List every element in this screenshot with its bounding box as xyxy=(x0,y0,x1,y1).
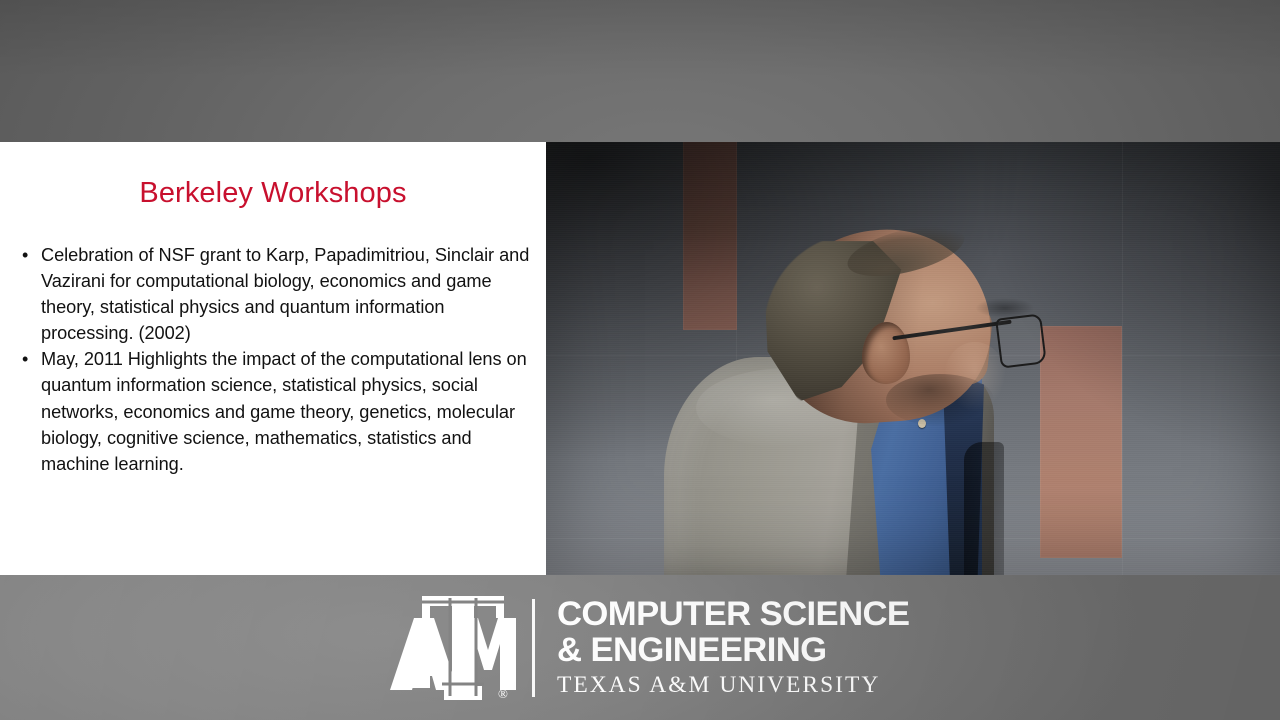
brand-line-university: TEXAS A&M UNIVERSITY xyxy=(557,670,903,701)
person-ear xyxy=(862,322,910,384)
presentation-slide: Berkeley Workshops • Celebration of NSF … xyxy=(0,0,1280,720)
brand-divider xyxy=(532,599,535,697)
eyeglasses-lens-icon xyxy=(995,313,1047,368)
bullet-list: • Celebration of NSF grant to Karp, Papa… xyxy=(18,242,534,477)
brand-text-block: COMPUTER SCIENCE & ENGINEERING TEXAS A&M… xyxy=(557,596,903,701)
slide-content-panel: Berkeley Workshops • Celebration of NSF … xyxy=(0,142,546,575)
slide-top-band xyxy=(0,0,1280,142)
slide-photo xyxy=(546,142,1280,575)
bullet-item: • May, 2011 Highlights the impact of the… xyxy=(18,346,534,476)
brand-line-engineering: & ENGINEERING xyxy=(557,632,909,668)
university-brand-lockup: ® COMPUTER SCIENCE & ENGINEERING TEXAS A… xyxy=(386,583,903,713)
photo-person-profile-icon xyxy=(546,142,1280,575)
slide-title: Berkeley Workshops xyxy=(0,178,546,210)
bullet-text: May, 2011 Highlights the impact of the c… xyxy=(41,349,527,473)
texas-am-atm-logo-icon: ® xyxy=(386,592,518,704)
bullet-text: Celebration of NSF grant to Karp, Papadi… xyxy=(41,245,529,343)
person-arm-shadow xyxy=(964,442,1004,575)
bullet-item: • Celebration of NSF grant to Karp, Papa… xyxy=(18,242,534,346)
slide-footer: ® COMPUTER SCIENCE & ENGINEERING TEXAS A… xyxy=(0,575,1280,720)
brand-line-computer-science: COMPUTER SCIENCE xyxy=(557,596,909,632)
person-jaw-shadow xyxy=(886,374,994,426)
registered-trademark-icon: ® xyxy=(498,686,508,701)
bullet-marker-icon: • xyxy=(22,242,28,268)
bullet-marker-icon: • xyxy=(22,346,28,372)
